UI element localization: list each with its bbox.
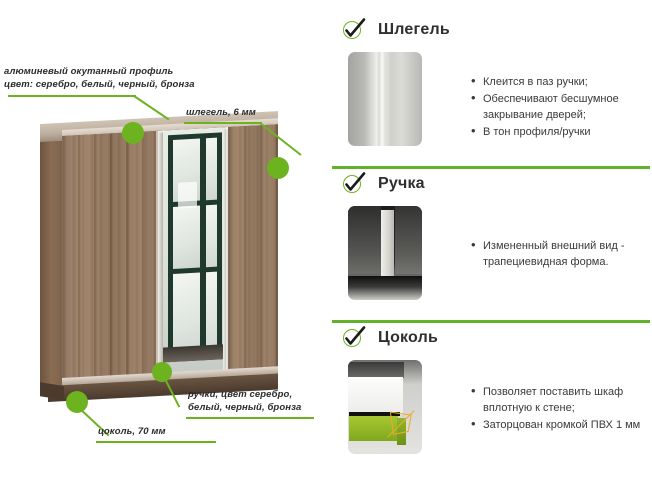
- check-circle-icon: [342, 18, 366, 42]
- infographic-root: алюминевый окутанный профиль цвет: сереб…: [0, 0, 652, 500]
- bullet-item: Обеспечивают бесшумное закрывание дверей…: [483, 91, 648, 123]
- annotation-profile-leader: [133, 95, 169, 120]
- annotation-profile-line1: алюминевый окутанный профиль: [4, 66, 173, 79]
- feature-bullets-handle: Измененный внешний вид - трапециевидная …: [470, 238, 648, 271]
- feature-thumbnail-handle: [348, 206, 422, 300]
- floor-track: [348, 276, 422, 300]
- wardrobe-doors: [62, 124, 278, 384]
- feature-title: Ручка: [378, 175, 425, 193]
- annotation-handles-underline: [186, 417, 314, 419]
- callout-dot-handles: [152, 362, 172, 382]
- features-pane: Шлегель Клеится в паз ручки; Обеспечиваю…: [330, 0, 652, 500]
- bullet-item: Клеится в паз ручки;: [483, 74, 648, 90]
- feature-thumbnail-plinth: [348, 360, 422, 454]
- callout-dot-plinth: [66, 391, 88, 413]
- product-illustration-pane: алюминевый окутанный профиль цвет: сереб…: [0, 0, 330, 500]
- feature-title: Цоколь: [378, 329, 438, 347]
- door-handle-left: [158, 133, 163, 377]
- feature-thumbnail-shlegel: [348, 52, 422, 146]
- section-divider: [332, 166, 650, 169]
- feature-title: Шлегель: [378, 21, 450, 39]
- annotation-profile-line2: цвет: серебро, белый, черный, бронза: [4, 79, 195, 92]
- wireframe-annotation-icon: [386, 405, 416, 444]
- wardrobe-door-mirror: [158, 127, 228, 379]
- reflected-glass-pane: [206, 205, 217, 268]
- reflected-glass-pane: [173, 273, 200, 357]
- feature-header-handle: Ручка: [342, 172, 425, 196]
- section-divider: [332, 320, 650, 323]
- wardrobe-door-left: [62, 131, 158, 384]
- feature-bullets-plinth: Позволяет поставить шкаф вплотную к стен…: [470, 384, 648, 434]
- feature-section-shlegel: Шлегель Клеится в паз ручки; Обеспечиваю…: [330, 18, 652, 168]
- wardrobe-image: [40, 118, 278, 400]
- bullet-item: В тон профиля/ручки: [483, 124, 648, 140]
- annotation-handles-line2: белый, черный, бронза: [188, 402, 301, 415]
- annotation-handles-line1: ручки, цвет серебро,: [188, 389, 292, 402]
- bullet-item: Позволяет поставить шкаф вплотную к стен…: [483, 384, 648, 416]
- annotation-plinth-line1: цоколь, 70 мм: [98, 426, 166, 439]
- reflected-green-door: [168, 132, 222, 362]
- handle-profile: [381, 210, 394, 283]
- check-circle-icon: [342, 172, 366, 196]
- reflected-glass-pane: [206, 272, 217, 356]
- seal-strip: [378, 52, 386, 146]
- door-panel-left: [348, 206, 381, 274]
- feature-bullets-shlegel: Клеится в паз ручки; Обеспечивают бесшум…: [470, 74, 648, 141]
- reflected-floor: [162, 344, 224, 362]
- feature-header-plinth: Цоколь: [342, 326, 438, 350]
- reflected-glass-pane: [173, 206, 200, 269]
- annotation-shlegel-line1: шлегель, 6 мм: [186, 107, 256, 120]
- reflected-glass-pane: [206, 138, 217, 201]
- bullet-item: Измененный внешний вид - трапециевидная …: [483, 238, 648, 270]
- annotation-plinth-underline: [96, 441, 216, 443]
- feature-header-shlegel: Шлегель: [342, 18, 450, 42]
- mirror-reflection: [162, 130, 224, 362]
- check-circle-icon: [342, 326, 366, 350]
- door-seam: [156, 131, 158, 379]
- door-panel-right: [395, 206, 422, 274]
- door-seam: [226, 127, 228, 375]
- reflected-highlight: [178, 182, 197, 209]
- feature-section-handle: Ручка Измененный внешний вид - трапециев…: [330, 172, 652, 320]
- annotation-profile-underline: [8, 95, 136, 97]
- wardrobe-plinth-side: [40, 382, 64, 400]
- cabinet-top: [348, 362, 404, 378]
- callout-dot-shlegel: [267, 157, 289, 179]
- feature-section-plinth: Цоколь Позволяет поставить шкаф вплотную…: [330, 326, 652, 486]
- bullet-item: Заторцован кромкой ПВХ 1 мм: [483, 417, 648, 433]
- callout-dot-profile: [122, 122, 144, 144]
- annotation-shlegel-underline: [184, 122, 262, 124]
